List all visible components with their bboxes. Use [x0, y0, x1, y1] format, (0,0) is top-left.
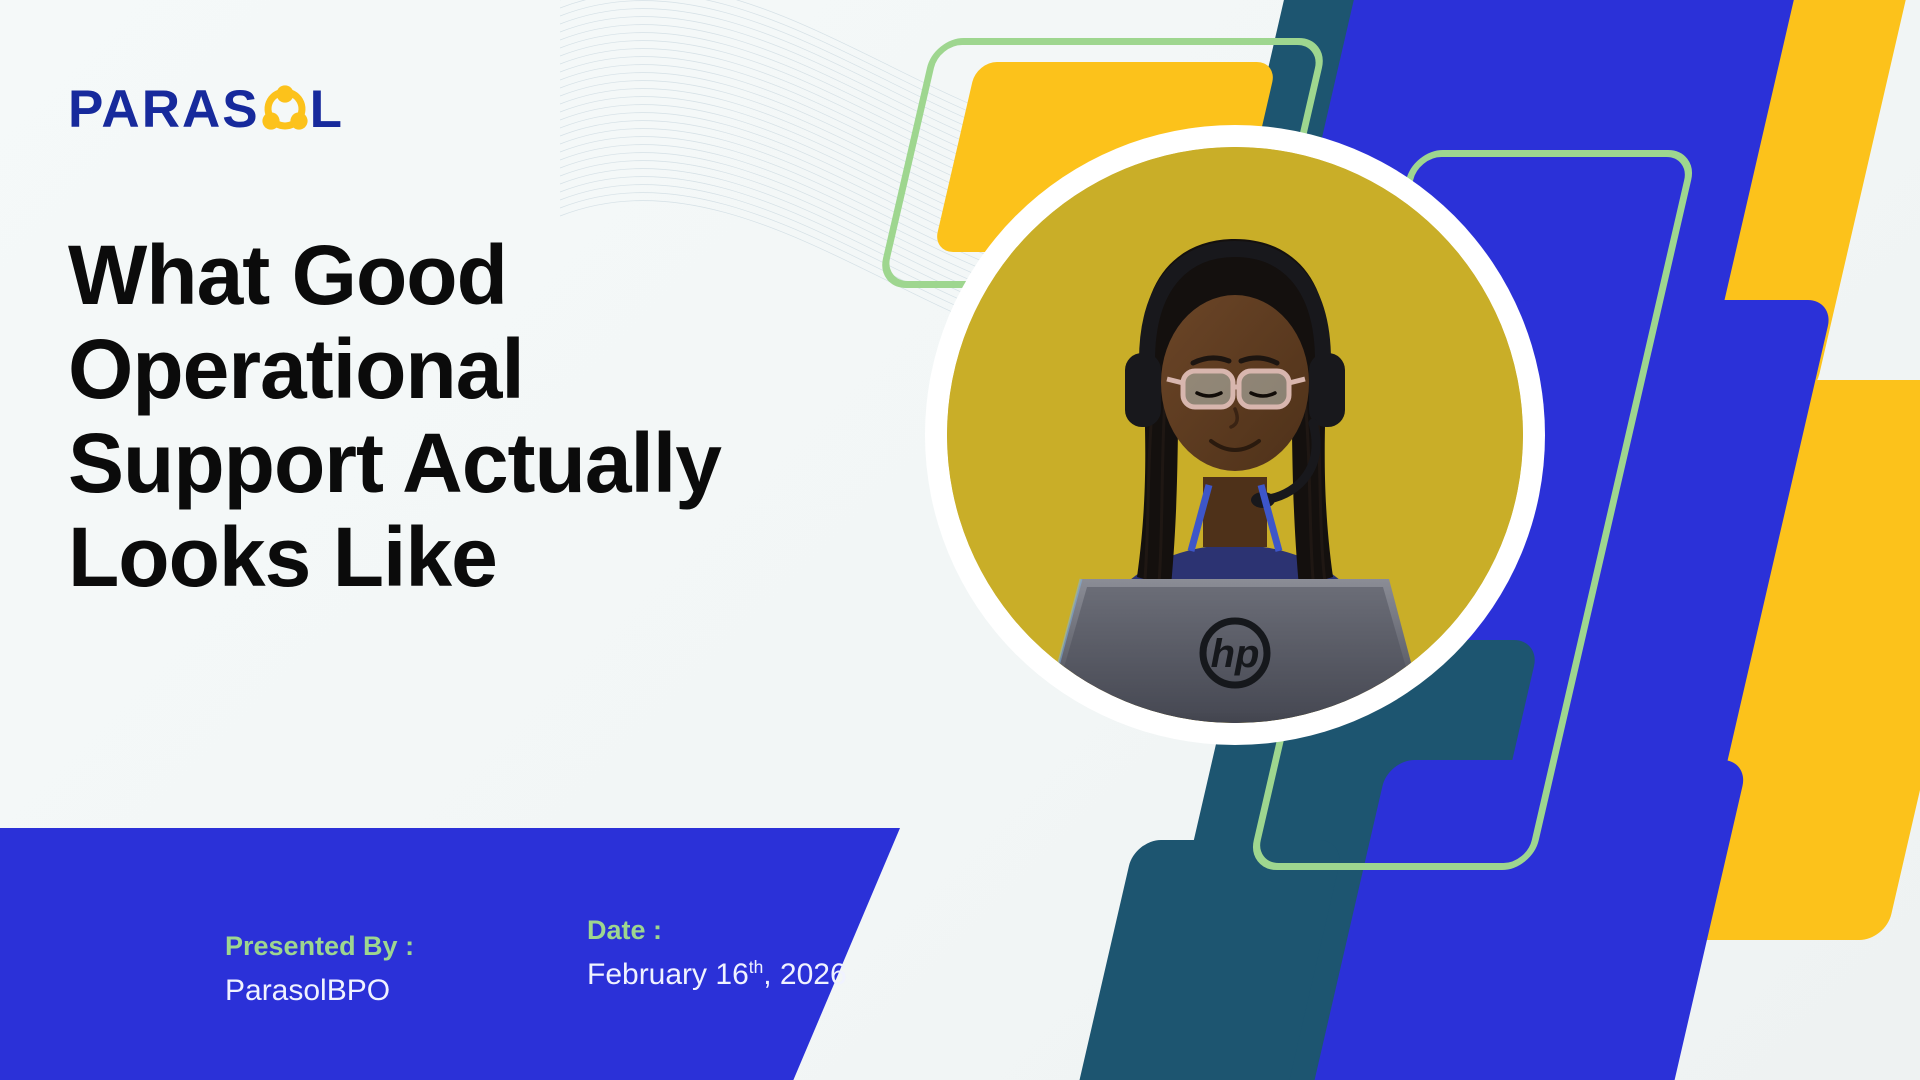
date-value: February 16th, 2026 — [587, 951, 847, 999]
presenter-block: Presented By : ParasolBPO — [225, 926, 414, 1015]
title-line-2: Operational — [68, 322, 868, 416]
yellow-parallelogram-right — [1635, 380, 1920, 940]
logo-wordmark-left: PARAS — [68, 83, 260, 136]
blue-parallelogram-bottom — [1292, 760, 1749, 1080]
date-ordinal-suffix: th — [749, 957, 764, 977]
page-title: What Good Operational Support Actually L… — [68, 228, 868, 604]
parasol-logo[interactable]: PARAS L — [68, 78, 344, 140]
yellow-parallelogram-top — [1563, 0, 1920, 400]
logo-wordmark-right: L — [310, 83, 344, 136]
presentation-slide: hp PARAS L What Good Operational Suppor — [0, 0, 1920, 1080]
presenter-label: Presented By : — [225, 926, 414, 967]
date-label: Date : — [587, 910, 847, 951]
date-block: Date : February 16th, 2026 — [587, 910, 847, 999]
hero-photo: hp — [947, 147, 1523, 723]
title-line-4: Looks Like — [68, 510, 868, 604]
footer-meta: Presented By : ParasolBPO Date : Februar… — [0, 828, 960, 1080]
support-agent-illustration: hp — [947, 147, 1523, 723]
date-year: , 2026 — [763, 958, 846, 991]
title-line-1: What Good — [68, 228, 868, 322]
title-line-3: Support Actually — [68, 416, 868, 510]
parasol-circles-icon — [261, 85, 309, 133]
presenter-value: ParasolBPO — [225, 967, 414, 1015]
hero-photo-ring: hp — [925, 125, 1545, 745]
date-month-day: February 16 — [587, 958, 749, 991]
svg-text:hp: hp — [1211, 632, 1260, 676]
teal-parallelogram-deep — [1061, 840, 1345, 1080]
